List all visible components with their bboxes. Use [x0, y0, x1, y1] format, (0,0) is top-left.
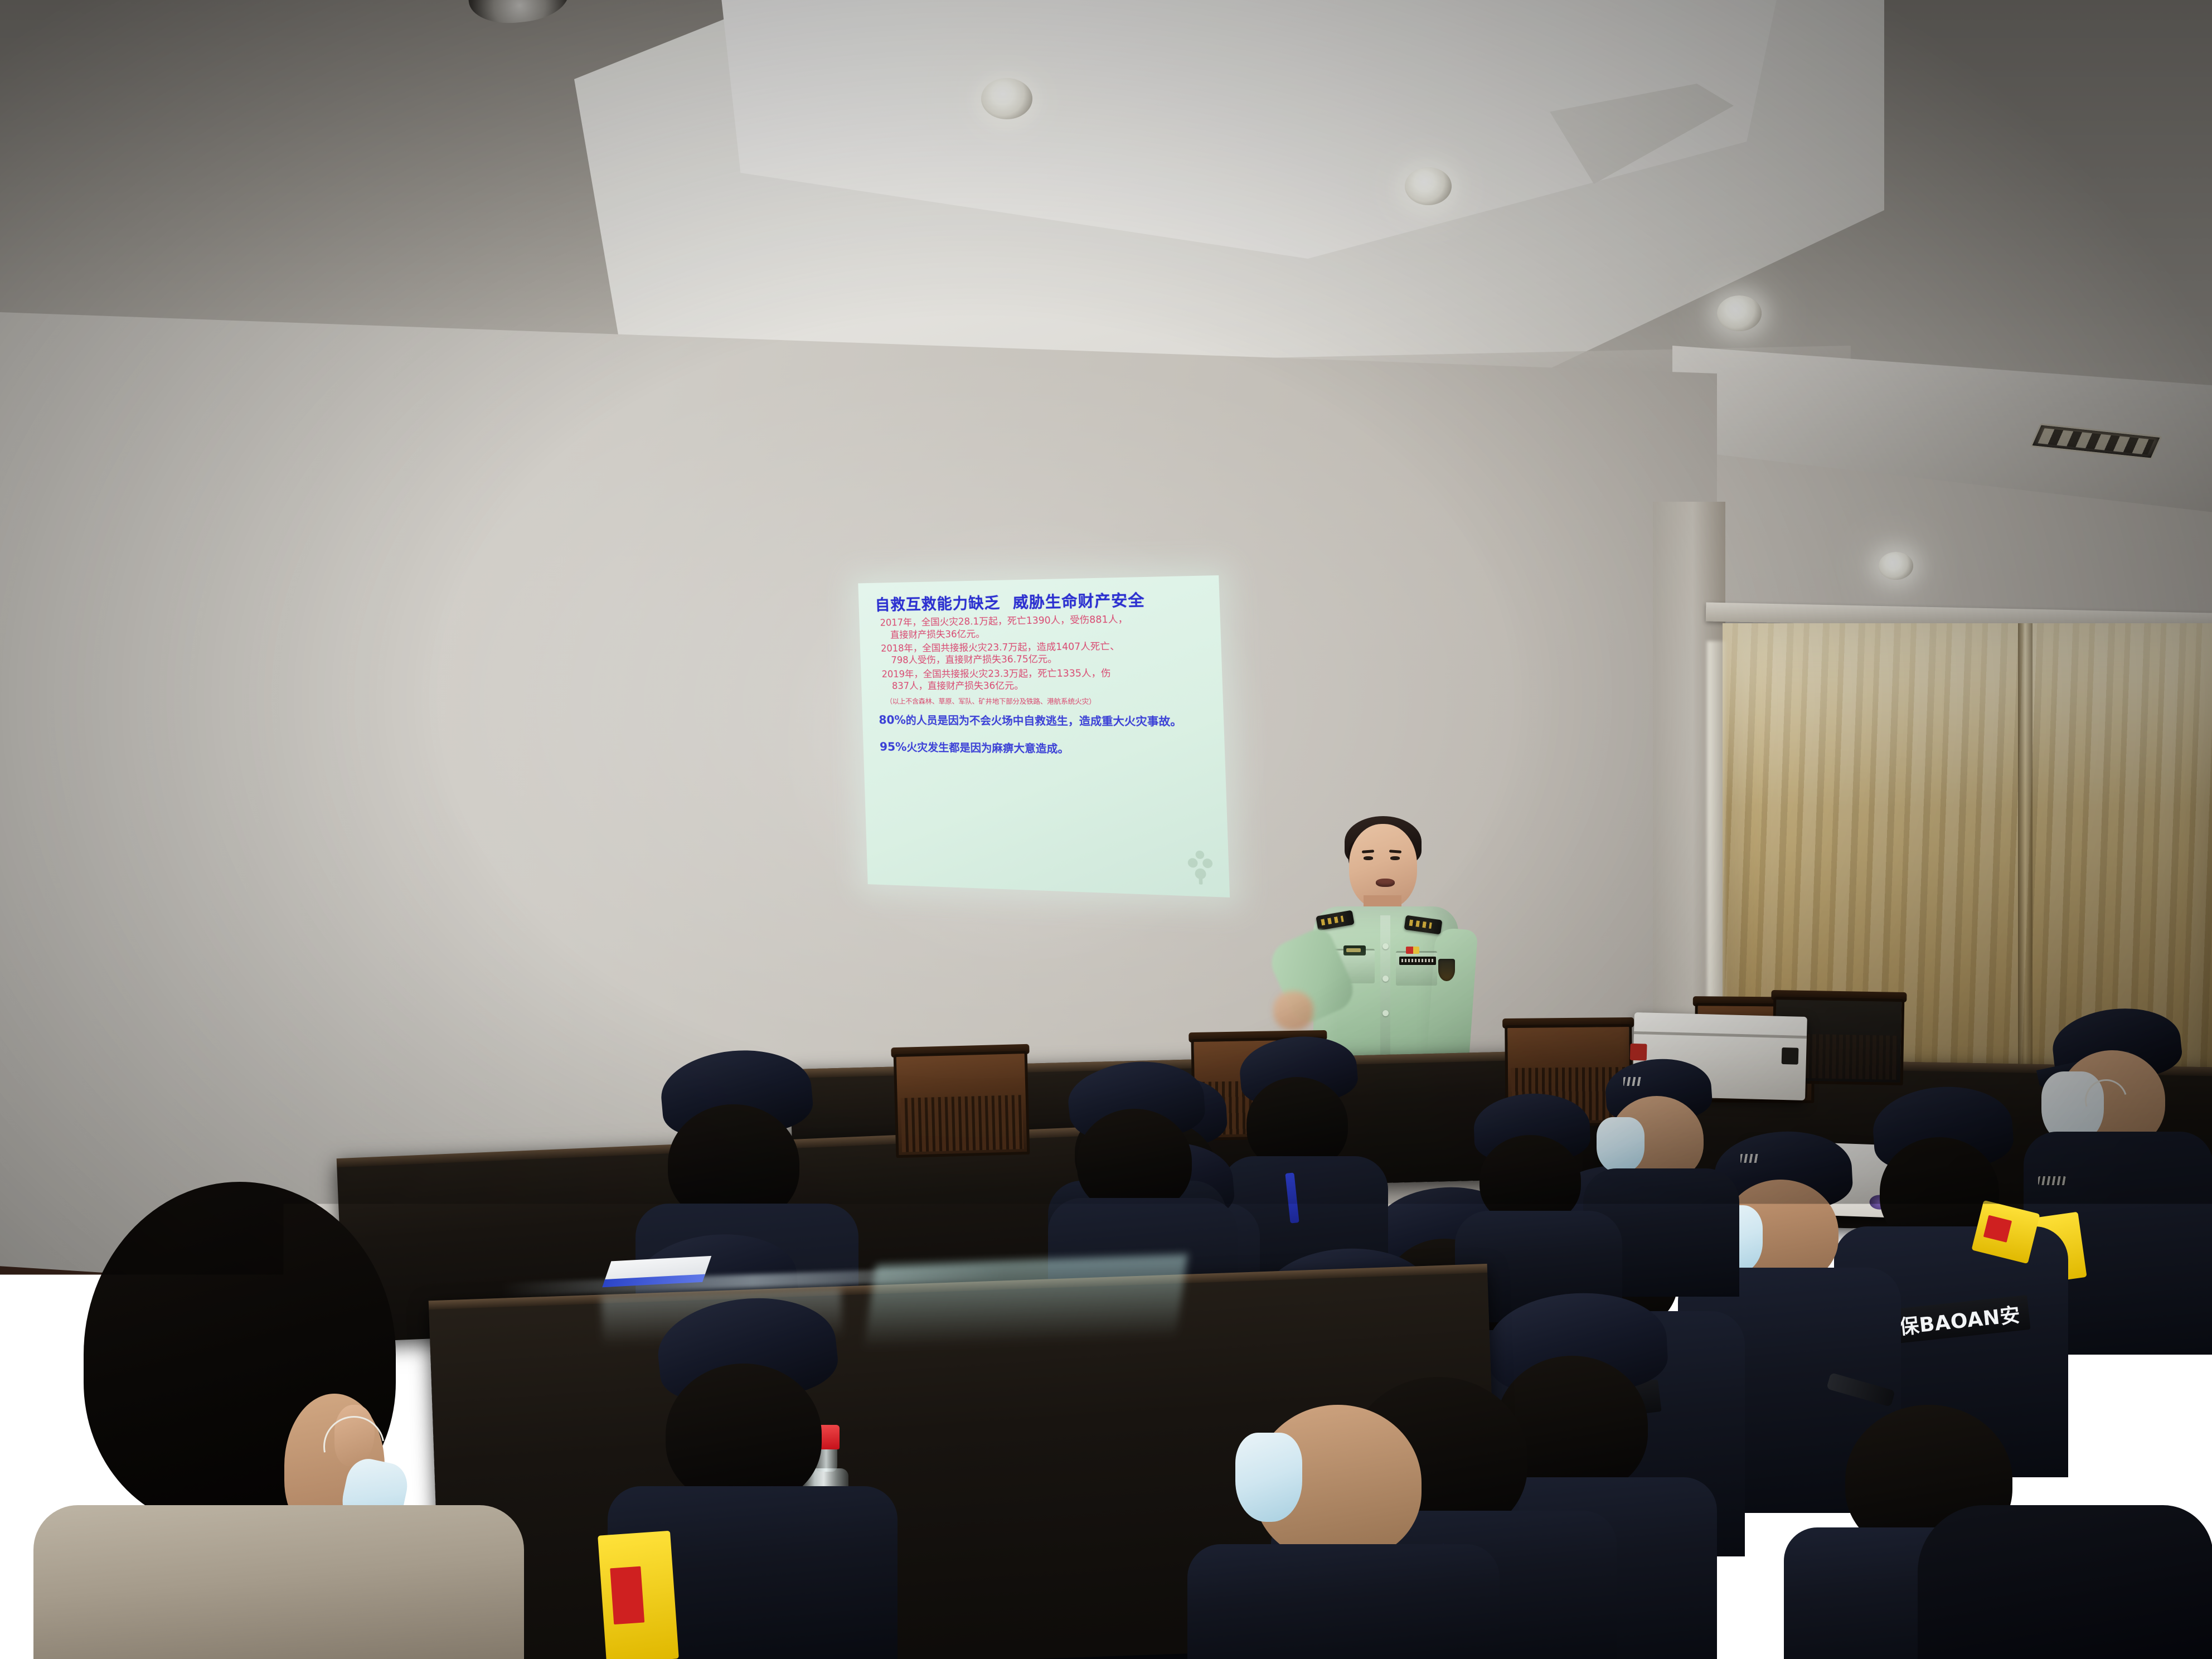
slide-footnote: （以上不含森林、草原、军队、矿井地下部分及铁路、港航系统火灾） — [886, 697, 1210, 706]
case-latch-icon — [1630, 1044, 1647, 1061]
presenter-shirt-button — [1382, 976, 1389, 982]
downlight-icon — [1879, 552, 1913, 580]
downlight-icon — [981, 78, 1032, 119]
downlight-icon — [1717, 295, 1762, 331]
presenter-shirt-button — [1382, 1010, 1389, 1016]
slide-title: 自救互救能力缺乏威胁生命财产安全 — [875, 591, 1206, 614]
presenter-name-tag — [1399, 957, 1436, 965]
slide-highlight-95: 95%火灾发生都是因为麻痹大意造成。 — [880, 740, 1211, 758]
foreground-shirt — [33, 1505, 524, 1659]
projected-slide: 自救互救能力缺乏威胁生命财产安全 2017年，全国火灾28.1万起，死亡1390… — [858, 575, 1230, 898]
presenter-chest-badge-icon — [1343, 945, 1366, 955]
downlight-icon — [1405, 167, 1452, 205]
audience-torso — [457, 1539, 870, 1659]
foreground-silhouette — [1918, 1505, 2212, 1659]
presenter-eye — [1390, 856, 1400, 860]
cap-insignia-icon — [1740, 1154, 1759, 1163]
table-screen-reflection — [864, 1254, 1188, 1349]
cap-insignia-icon — [1623, 1077, 1642, 1086]
presenter-mouth — [1376, 879, 1395, 887]
slide-stat-2017: 2017年，全国火灾28.1万起，死亡1390人，受伤881人， 直接财产损失3… — [876, 612, 1207, 641]
audience-torso — [1187, 1544, 1500, 1659]
curtain-daylight-glow — [1723, 623, 2212, 807]
presenter-eye — [1364, 856, 1373, 860]
audience-member — [1187, 1405, 1500, 1659]
presenter-flag-pin-icon — [1406, 947, 1419, 954]
presenter-sleeve-patch-icon — [1438, 959, 1455, 981]
foreground-silhouette — [457, 1539, 870, 1659]
slide-watermark-icon — [1181, 847, 1220, 886]
foreground-attendee — [33, 1182, 524, 1659]
face-mask — [1235, 1433, 1302, 1522]
slide-highlight-80: 80%的人员是因为不会火场中自救逃生，造成重大火灾事故。 — [879, 714, 1210, 730]
case-latch-icon — [1782, 1047, 1799, 1065]
slide-title-left: 自救互救能力缺乏 — [875, 594, 1000, 614]
audience-head — [666, 1364, 822, 1505]
wooden-chair — [894, 1051, 1030, 1158]
audience-torso — [1918, 1505, 2212, 1659]
presenter-left-hand — [1273, 991, 1313, 1030]
meeting-room-photo: 自救互救能力缺乏威胁生命财产安全 2017年，全国火灾28.1万起，死亡1390… — [0, 0, 2212, 1659]
slide-stat-2018: 2018年，全国共接报火灾23.7万起，造成1407人死亡、 798人受伤，直接… — [876, 639, 1208, 667]
slide-stat-2019: 2019年，全国共接报火灾23.3万起，死亡1335人，伤 837人，直接财产损… — [877, 667, 1209, 692]
presenter-shirt-button — [1382, 943, 1389, 949]
slide-title-right: 威胁生命财产安全 — [1012, 591, 1145, 612]
